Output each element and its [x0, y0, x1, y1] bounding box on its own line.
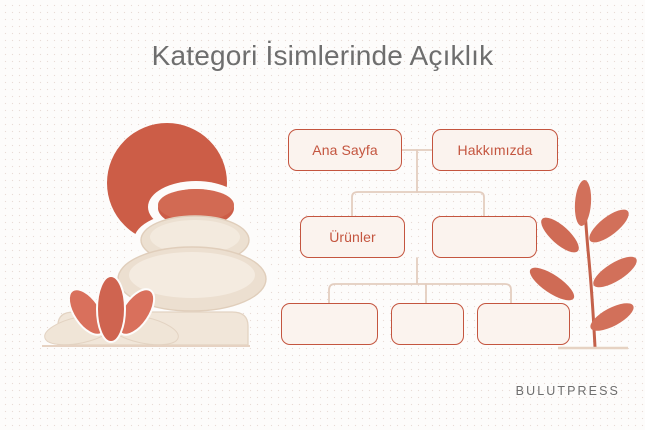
node-ana-sayfa[interactable]: Ana Sayfa	[288, 129, 402, 171]
node-urunler[interactable]: Ürünler	[300, 216, 405, 258]
node-label: Ürünler	[329, 229, 376, 245]
node-row3-a[interactable]	[281, 303, 378, 345]
connector-row3-branch	[329, 284, 511, 303]
node-row2-empty[interactable]	[432, 216, 537, 258]
node-row3-b[interactable]	[391, 303, 464, 345]
node-hakkimizda[interactable]: Hakkımızda	[432, 129, 558, 171]
node-label: Hakkımızda	[458, 142, 533, 158]
node-label: Ana Sayfa	[312, 142, 378, 158]
brand-logo: BULUTPRESS	[516, 384, 620, 398]
page-title: Kategori İsimlerinde Açıklık	[0, 40, 645, 72]
node-row3-c[interactable]	[477, 303, 570, 345]
slide-canvas: Kategori İsimlerinde Açıklık Ana SayfaHa…	[0, 0, 645, 430]
connector-row2-branch	[352, 192, 484, 216]
